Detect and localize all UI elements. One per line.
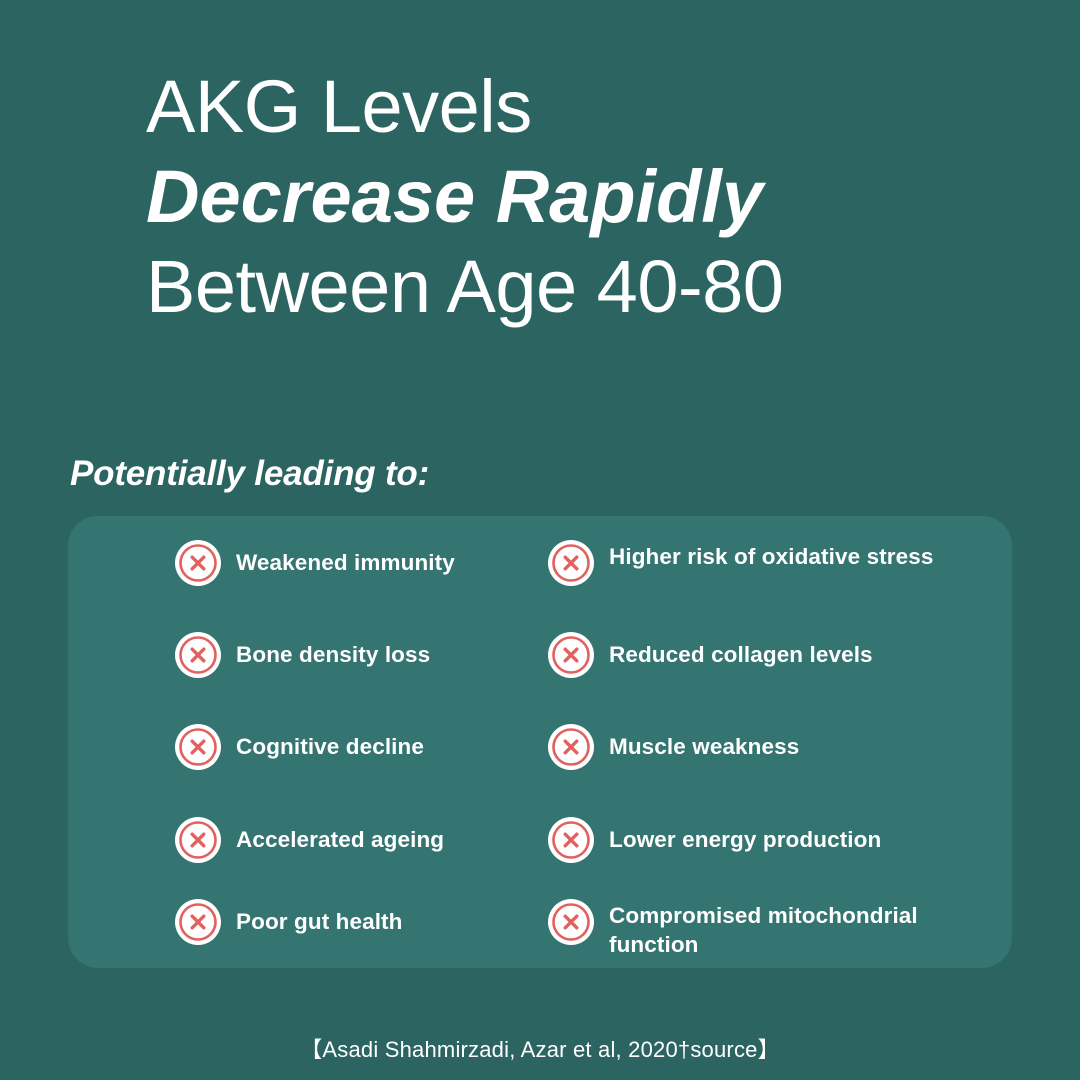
consequences-grid: Weakened immunity Bone density loss bbox=[68, 516, 1012, 968]
list-item-label: Weakened immunity bbox=[236, 540, 455, 577]
list-item-label: Higher risk of oxidative stress bbox=[609, 540, 933, 571]
circle-x-icon bbox=[175, 899, 221, 945]
circle-x-icon bbox=[548, 632, 594, 678]
consequences-column-right: Higher risk of oxidative stress Reduced … bbox=[548, 516, 988, 968]
list-item: Bone density loss bbox=[175, 632, 525, 678]
infographic-canvas: { "colors": { "background": "#2c6462", "… bbox=[0, 0, 1080, 1080]
consequences-column-left: Weakened immunity Bone density loss bbox=[175, 516, 525, 968]
list-item-label: Reduced collagen levels bbox=[609, 632, 873, 669]
list-item: Muscle weakness bbox=[548, 724, 988, 770]
list-item: Cognitive decline bbox=[175, 724, 525, 770]
source-citation: 【Asadi Shahmirzadi, Azar et al, 2020†sou… bbox=[0, 1032, 1080, 1064]
list-item: Poor gut health bbox=[175, 899, 525, 945]
subheading: Potentially leading to: bbox=[70, 452, 429, 496]
circle-x-icon bbox=[548, 540, 594, 586]
list-item-label: Bone density loss bbox=[236, 632, 430, 669]
circle-x-icon bbox=[548, 724, 594, 770]
list-item-label: Poor gut health bbox=[236, 899, 403, 936]
circle-x-icon bbox=[548, 899, 594, 945]
circle-x-icon bbox=[175, 724, 221, 770]
page-title: AKG Levels Decrease Rapidly Between Age … bbox=[146, 62, 1046, 332]
title-line-1: AKG Levels bbox=[146, 62, 1046, 152]
list-item: Lower energy production bbox=[548, 817, 988, 863]
circle-x-icon bbox=[175, 540, 221, 586]
list-item-label: Cognitive decline bbox=[236, 724, 424, 761]
list-item: Compromised mitochondrial function bbox=[548, 899, 988, 959]
list-item-label: Accelerated ageing bbox=[236, 817, 444, 854]
consequences-card: Weakened immunity Bone density loss bbox=[68, 516, 1012, 968]
title-line-2: Decrease Rapidly bbox=[146, 152, 1046, 242]
list-item: Accelerated ageing bbox=[175, 817, 525, 863]
list-item: Reduced collagen levels bbox=[548, 632, 988, 678]
circle-x-icon bbox=[175, 632, 221, 678]
list-item-label: Muscle weakness bbox=[609, 724, 799, 761]
circle-x-icon bbox=[548, 817, 594, 863]
list-item-label: Lower energy production bbox=[609, 817, 881, 854]
list-item-label: Compromised mitochondrial function bbox=[609, 899, 979, 959]
title-line-3: Between Age 40-80 bbox=[146, 242, 1046, 332]
circle-x-icon bbox=[175, 817, 221, 863]
list-item: Higher risk of oxidative stress bbox=[548, 540, 988, 586]
list-item: Weakened immunity bbox=[175, 540, 525, 586]
